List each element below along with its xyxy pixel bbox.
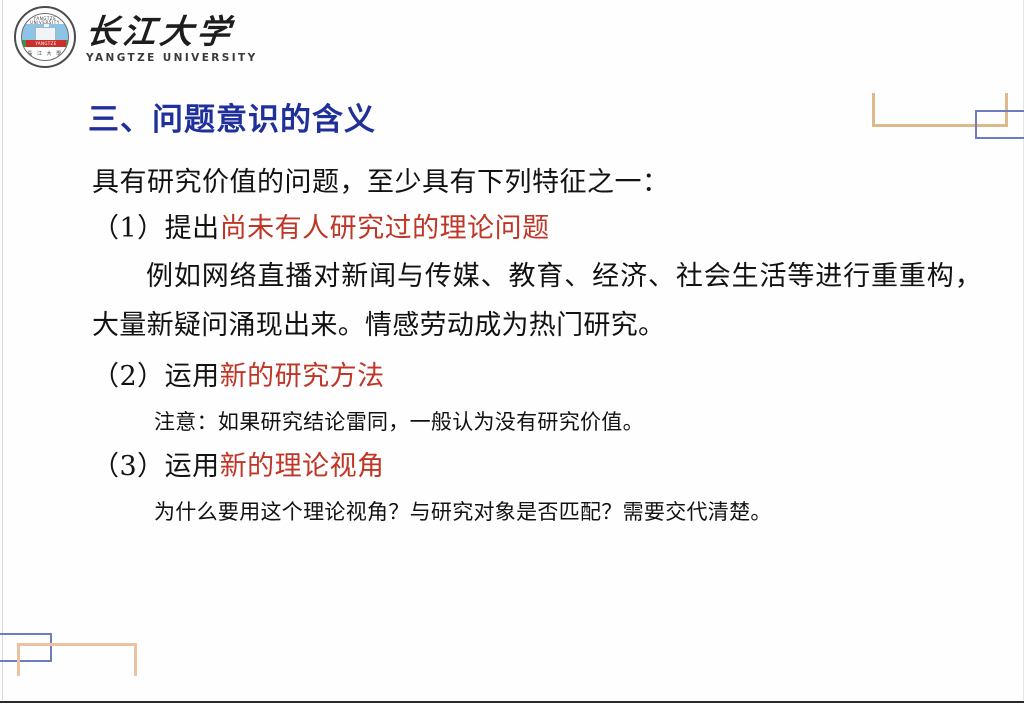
point-1-heading: （1）提出尚未有人研究过的理论问题 [92,206,992,252]
wordmark: 长江大学 YANGTZE UNIVERSITY [86,11,258,64]
point-3-heading: （3）运用新的理论视角 [92,444,992,490]
slide-canvas: YANGTZE UNIVERSITY YANGTZE 長 江 大 學 长江大学 … [0,0,1024,705]
point-2-heading: （2）运用新的研究方法 [92,354,992,400]
wordmark-chinese: 长江大学 [84,15,259,48]
point-2-highlight: 新的研究方法 [220,361,385,392]
point-3-highlight: 新的理论视角 [220,451,385,482]
intro-line: 具有研究价值的问题，至少具有下列特征之一： [92,160,992,206]
slide-title: 三、问题意识的含义 [88,94,376,139]
decor-tan-bracket-bottom-left [17,643,137,676]
crest-inner-disc: YANGTZE UNIVERSITY YANGTZE 長 江 大 學 [21,13,69,61]
decor-blue-rect-top-right [975,110,1024,139]
page-edge-left [2,0,3,700]
point-3-label: （3）运用 [92,451,220,482]
point-1-label: （1）提出 [92,213,220,244]
page-edge-bottom [0,701,1024,703]
university-branding: YANGTZE UNIVERSITY YANGTZE 長 江 大 學 长江大学 … [14,6,258,68]
wordmark-english: YANGTZE UNIVERSITY [86,53,258,64]
point-2-detail: 注意：如果研究结论雷同，一般认为没有研究价值。 [92,400,992,444]
point-1-highlight: 尚未有人研究过的理论问题 [220,213,550,244]
slide-body: 具有研究价值的问题，至少具有下列特征之一： （1）提出尚未有人研究过的理论问题 … [92,160,992,534]
crest-banner-text: YANGTZE [26,40,66,47]
crest-arc-bottom-text: 長 江 大 學 [22,52,68,57]
point-3-detail: 为什么要用这个理论视角？与研究对象是否匹配？需要交代清楚。 [92,490,992,534]
point-2-label: （2）运用 [92,361,220,392]
university-crest-icon: YANGTZE UNIVERSITY YANGTZE 長 江 大 學 [14,6,76,68]
point-1-detail: 例如网络直播对新闻与传媒、教育、经济、社会生活等进行重重构，大量新疑问涌现出来。… [92,252,982,350]
